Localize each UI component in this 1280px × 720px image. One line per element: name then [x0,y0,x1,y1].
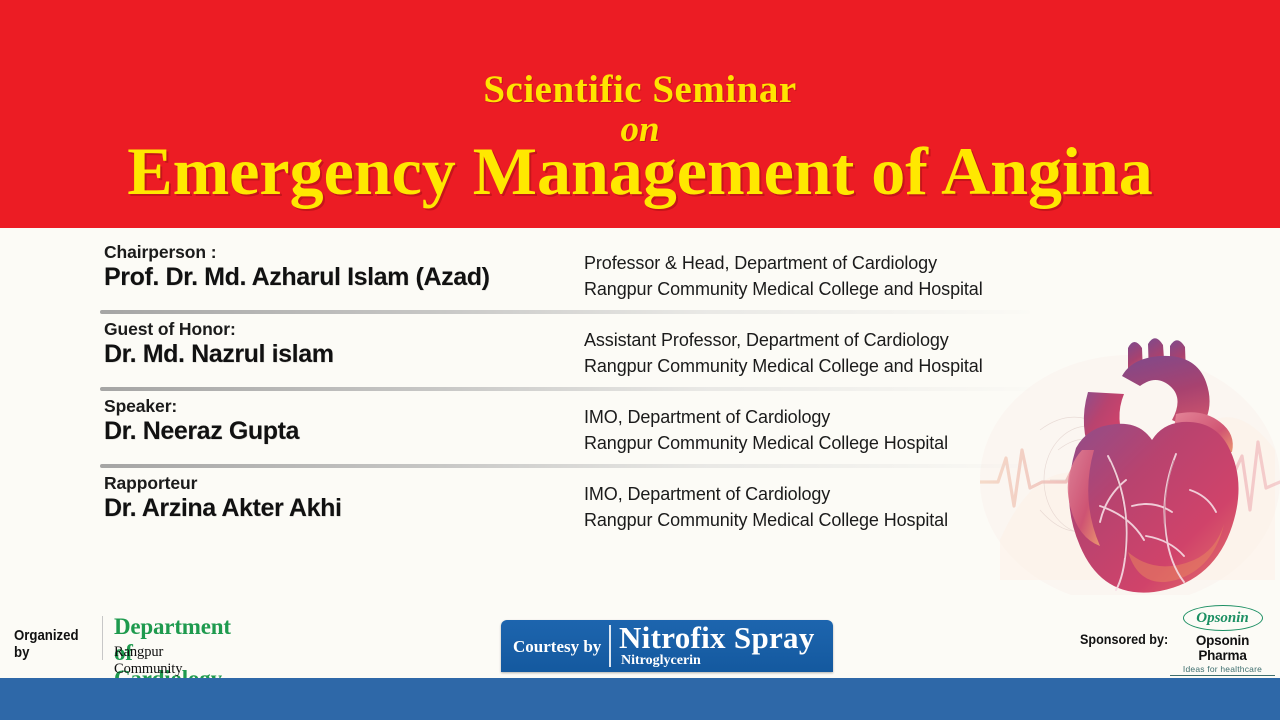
courtesy-brand: Nitrofix Spray [619,620,815,656]
participant-role: Speaker: [104,396,574,416]
participant-right: Assistant Professor, Department of Cardi… [584,327,1054,379]
participant-left: Rapporteur Dr. Arzina Akter Akhi [104,473,574,524]
participant-right: IMO, Department of Cardiology Rangpur Co… [584,481,1054,533]
table-row: Rapporteur Dr. Arzina Akter Akhi IMO, De… [0,469,1060,546]
courtesy-label: Courtesy by [513,637,601,657]
participant-affiliation-line1: IMO, Department of Cardiology [584,404,1054,430]
participant-name: Dr. Arzina Akter Akhi [104,493,574,524]
participant-left: Speaker: Dr. Neeraz Gupta [104,396,574,447]
table-row: Speaker: Dr. Neeraz Gupta IMO, Departmen… [0,392,1060,469]
opsonin-logo-text: Opsonin [1196,610,1249,627]
participant-affiliation-line2: Rangpur Community Medical College and Ho… [584,276,1054,302]
participant-role: Guest of Honor: [104,319,574,339]
participant-affiliation-line2: Rangpur Community Medical College and Ho… [584,353,1054,379]
sponsor-tagline: Ideas for healthcare [1170,664,1275,676]
opsonin-logo: Opsonin Opsonin Pharma Ideas for healthc… [1170,605,1275,676]
participant-role: Chairperson : [104,242,574,262]
row-divider [100,464,1030,468]
participant-name: Dr. Neeraz Gupta [104,416,574,447]
participant-left: Guest of Honor: Dr. Md. Nazrul islam [104,319,574,370]
courtesy-divider [609,625,611,667]
participants-list: Chairperson : Prof. Dr. Md. Azharul Isla… [0,238,1060,546]
participant-affiliation-line2: Rangpur Community Medical College Hospit… [584,507,1054,533]
sponsored-by: Sponsored by: Opsonin Opsonin Pharma Ide… [1080,605,1280,667]
banner-header: Scientific Seminar on Emergency Manageme… [0,0,1280,228]
row-divider [100,310,1030,314]
participant-affiliation-line1: Assistant Professor, Department of Cardi… [584,327,1054,353]
participant-affiliation-line2: Rangpur Community Medical College Hospit… [584,430,1054,456]
participant-affiliation-line1: Professor & Head, Department of Cardiolo… [584,250,1054,276]
opsonin-logo-oval: Opsonin [1183,605,1263,631]
table-row: Guest of Honor: Dr. Md. Nazrul islam Ass… [0,315,1060,392]
bottom-bar [0,678,1280,720]
courtesy-generic-name: Nitroglycerin [621,653,701,669]
seminar-banner: Scientific Seminar on Emergency Manageme… [0,0,1280,720]
participant-affiliation-line1: IMO, Department of Cardiology [584,481,1054,507]
table-row: Chairperson : Prof. Dr. Md. Azharul Isla… [0,238,1060,315]
participant-name: Prof. Dr. Md. Azharul Islam (Azad) [104,262,574,293]
sponsor-company-name: Opsonin Pharma [1170,633,1275,663]
row-divider [100,387,1030,391]
organized-divider [102,616,103,660]
seminar-title: Emergency Management of Angina [0,137,1280,205]
header-title-block: Scientific Seminar on Emergency Manageme… [0,0,1280,228]
sponsored-by-label: Sponsored by: [1080,631,1168,647]
courtesy-banner: Courtesy by Nitrofix Spray Nitroglycerin [501,620,833,672]
organized-by-label: Organized by [14,627,79,661]
participant-left: Chairperson : Prof. Dr. Md. Azharul Isla… [104,242,574,293]
participant-role: Rapporteur [104,473,574,493]
seminar-kicker: Scientific Seminar [0,70,1280,109]
participant-name: Dr. Md. Nazrul islam [104,339,574,370]
participant-right: Professor & Head, Department of Cardiolo… [584,250,1054,302]
participant-right: IMO, Department of Cardiology Rangpur Co… [584,404,1054,456]
